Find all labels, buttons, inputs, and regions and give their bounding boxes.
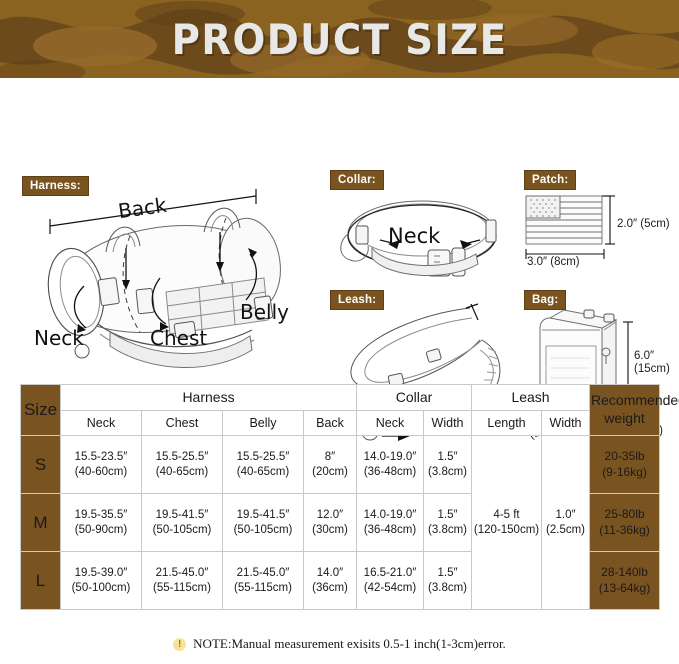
harness-neck-label: Neck	[34, 326, 84, 350]
value-line-2: (36-48cm)	[364, 466, 416, 478]
diagrams-area: Harness:	[0, 78, 679, 374]
value-line-1: 19.5-35.5″	[75, 509, 128, 521]
cell-harness-neck: 19.5-35.5″ (50-90cm)	[61, 494, 142, 552]
value-line-1: 21.5-45.0″	[156, 567, 209, 579]
cell-collar-width: 1.5″ (3.8cm)	[424, 436, 472, 494]
cell-collar-width: 1.5″ (3.8cm)	[424, 552, 472, 610]
cell-harness-back: 12.0″ (30cm)	[304, 494, 357, 552]
row-size: M	[21, 494, 61, 552]
value-line-1: 12.0″	[317, 509, 343, 521]
cell-harness-belly: 15.5-25.5″ (40-65cm)	[223, 436, 304, 494]
value-line-2: (120-150cm)	[474, 524, 539, 536]
page-title: PRODUCT SIZE	[27, 0, 652, 78]
value-line-2: (55-115cm)	[234, 582, 292, 594]
value-line-2: (40-65cm)	[237, 466, 289, 478]
cell-harness-back: 14.0″ (36cm)	[304, 552, 357, 610]
size-table-container: Size Harness Collar Leash Recommended we…	[20, 384, 659, 610]
header-leash-width: Width	[542, 411, 590, 436]
value-line-1: 4-5 ft	[493, 509, 519, 521]
cell-harness-belly: 21.5-45.0″ (55-115cm)	[223, 552, 304, 610]
value-line-1: 19.5-41.5″	[237, 509, 290, 521]
value-line-1: 20-35lb	[605, 449, 645, 463]
header-harness-belly: Belly	[223, 411, 304, 436]
header-harness-neck: Neck	[61, 411, 142, 436]
value-line-2: (3.8cm)	[428, 524, 467, 536]
value-line-1: 14.0-19.0″	[364, 509, 417, 521]
bag-height-metric: (15cm)	[634, 363, 670, 375]
value-line-2: (42-54cm)	[364, 582, 416, 594]
value-line-2: (50-105cm)	[234, 524, 293, 536]
cell-leash-length: 4-5 ft (120-150cm)	[472, 436, 542, 610]
header-banner: PRODUCT SIZE	[0, 0, 679, 78]
value-line-1: 14.0″	[317, 567, 343, 579]
header-recommended-weight: Recommended weight	[590, 385, 660, 436]
value-line-2: (2.5cm)	[546, 524, 585, 536]
value-line-2: (13-64kg)	[599, 581, 650, 595]
cell-harness-chest: 21.5-45.0″ (55-115cm)	[142, 552, 223, 610]
value-line-2: (11-36kg)	[599, 523, 649, 537]
cell-recommended-weight: 28-140lb (13-64kg)	[590, 552, 660, 610]
value-line-1: 1.5″	[437, 509, 457, 521]
cell-recommended-weight: 20-35lb (9-16kg)	[590, 436, 660, 494]
value-line-2: (20cm)	[312, 466, 348, 478]
size-table: Size Harness Collar Leash Recommended we…	[20, 384, 660, 610]
value-line-2: (36-48cm)	[364, 524, 416, 536]
cell-harness-neck: 19.5-39.0″ (50-100cm)	[61, 552, 142, 610]
row-size: S	[21, 436, 61, 494]
cell-collar-width: 1.5″ (3.8cm)	[424, 494, 472, 552]
table-row: S 15.5-23.5″ (40-60cm) 15.5-25.5″ (40-65…	[21, 436, 660, 494]
table-header-sub: Neck Chest Belly Back Neck Width Length …	[21, 411, 660, 436]
patch-height-dim: 2.0″ (5cm)	[617, 218, 670, 231]
warning-icon: !	[173, 638, 186, 651]
value-line-1: 15.5-25.5″	[156, 451, 209, 463]
cell-harness-back: 8″ (20cm)	[304, 436, 357, 494]
value-line-1: 16.5-21.0″	[364, 567, 417, 579]
cell-harness-neck: 15.5-23.5″ (40-60cm)	[61, 436, 142, 494]
collar-badge: Collar:	[330, 170, 384, 190]
header-size: Size	[21, 385, 61, 436]
value-line-1: 25-80lb	[605, 507, 645, 521]
value-line-1: 1.5″	[437, 451, 457, 463]
harness-chest-label: Chest	[150, 326, 207, 350]
harness-belly-label: Belly	[240, 300, 289, 324]
cell-collar-neck: 14.0-19.0″ (36-48cm)	[357, 494, 424, 552]
bag-badge: Bag:	[524, 290, 566, 310]
value-line-2: (50-100cm)	[72, 582, 131, 594]
collar-neck-label: Neck	[388, 224, 440, 248]
cell-recommended-weight: 25-80lb (11-36kg)	[590, 494, 660, 552]
product-size-chart: PRODUCT SIZE Harness:	[0, 0, 679, 664]
value-line-1: 19.5-41.5″	[156, 509, 209, 521]
value-line-2: (3.8cm)	[428, 466, 467, 478]
value-line-1: 21.5-45.0″	[237, 567, 290, 579]
value-line-2: (40-65cm)	[156, 466, 208, 478]
header-collar-neck: Neck	[357, 411, 424, 436]
header-collar-width: Width	[424, 411, 472, 436]
leash-badge: Leash:	[330, 290, 384, 310]
row-size: L	[21, 552, 61, 610]
value-line-2: (40-60cm)	[75, 466, 127, 478]
cell-collar-neck: 14.0-19.0″ (36-48cm)	[357, 436, 424, 494]
value-line-2: (50-105cm)	[153, 524, 212, 536]
patch-badge: Patch:	[524, 170, 576, 190]
harness-badge: Harness:	[22, 176, 89, 196]
cell-leash-width: 1.0″ (2.5cm)	[542, 436, 590, 610]
header-group-collar: Collar	[357, 385, 472, 411]
header-group-leash: Leash	[472, 385, 590, 411]
header-group-harness: Harness	[61, 385, 357, 411]
value-line-1: 14.0-19.0″	[364, 451, 417, 463]
table-header-groups: Size Harness Collar Leash Recommended we…	[21, 385, 660, 411]
value-line-2: (30cm)	[312, 524, 348, 536]
value-line-1: 1.0″	[556, 509, 576, 521]
cell-harness-belly: 19.5-41.5″ (50-105cm)	[223, 494, 304, 552]
value-line-2: (50-90cm)	[75, 524, 127, 536]
value-line-1: 15.5-23.5″	[75, 451, 128, 463]
note-text: NOTE:Manual measurement exisits 0.5-1 in…	[193, 636, 506, 652]
header-harness-back: Back	[304, 411, 357, 436]
cell-harness-chest: 15.5-25.5″ (40-65cm)	[142, 436, 223, 494]
note-row: ! NOTE:Manual measurement exisits 0.5-1 …	[0, 636, 679, 652]
value-line-1: 8″	[325, 451, 335, 463]
value-line-1: 28-140lb	[601, 565, 648, 579]
value-line-2: (3.8cm)	[428, 582, 467, 594]
header-harness-chest: Chest	[142, 411, 223, 436]
bag-height-dim: 6.0″ (15cm)	[634, 350, 670, 376]
header-leash-length: Length	[472, 411, 542, 436]
patch-width-dim: 3.0″ (8cm)	[527, 256, 580, 269]
cell-collar-neck: 16.5-21.0″ (42-54cm)	[357, 552, 424, 610]
value-line-2: (55-115cm)	[153, 582, 211, 594]
value-line-1: 15.5-25.5″	[237, 451, 290, 463]
value-line-2: (36cm)	[312, 582, 348, 594]
cell-harness-chest: 19.5-41.5″ (50-105cm)	[142, 494, 223, 552]
bag-height-value: 6.0″	[634, 350, 654, 362]
value-line-1: 19.5-39.0″	[75, 567, 128, 579]
value-line-2: (9-16kg)	[602, 465, 647, 479]
value-line-1: 1.5″	[437, 567, 457, 579]
